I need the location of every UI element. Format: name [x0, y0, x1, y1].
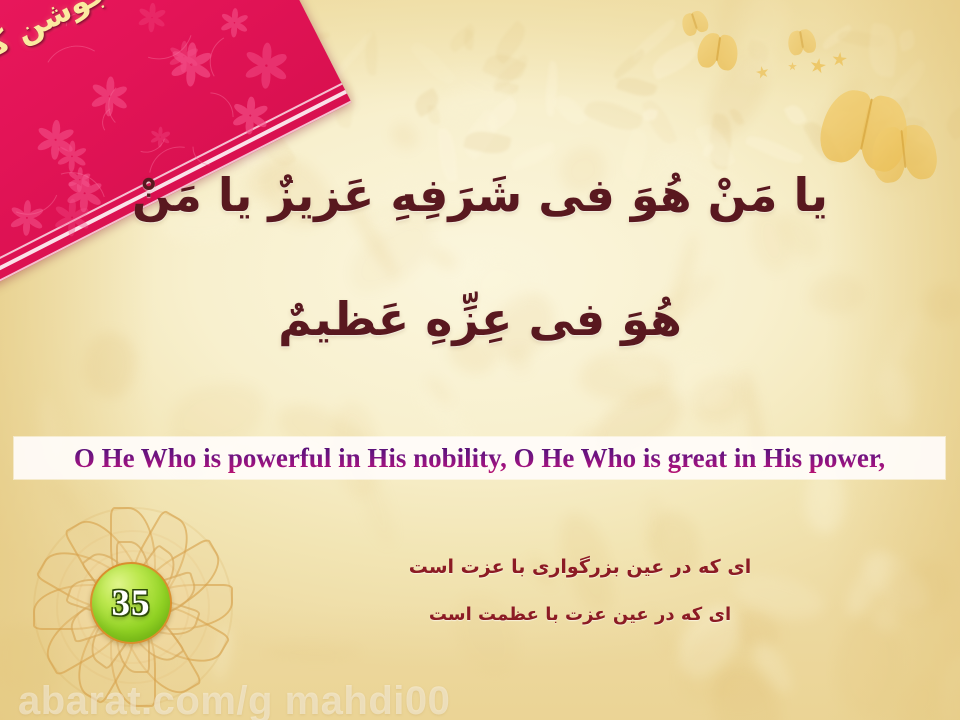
arabic-verse-line-2: هُوَ فى عِزِّهِ عَظيمٌ [0, 292, 960, 346]
star-icon [755, 65, 770, 80]
persian-translation-line-2: ای که در عین عزت با عظمت است [330, 604, 830, 625]
star-icon [788, 62, 797, 71]
star-icon [831, 51, 847, 67]
english-translation-text: O He Who is powerful in His nobility, O … [74, 443, 885, 474]
verse-number-label: 35 [112, 582, 151, 625]
arabic-verse-line-1: يا مَنْ هُوَ فى شَرَفِهِ عَزيزٌ يا مَنْ [0, 168, 960, 222]
persian-translation-line-1: ای که در عین بزرگواری با عزت است [330, 556, 830, 578]
star-icon [809, 57, 828, 76]
slide-canvas: دعای جوشن کبیر يا مَنْ هُوَ فى شَرَفِهِ … [0, 0, 960, 720]
butterfly-icon [786, 26, 818, 58]
english-translation-band: O He Who is powerful in His nobility, O … [14, 437, 945, 479]
butterfly-icon [695, 29, 740, 74]
verse-number-badge: 35 [90, 562, 172, 644]
